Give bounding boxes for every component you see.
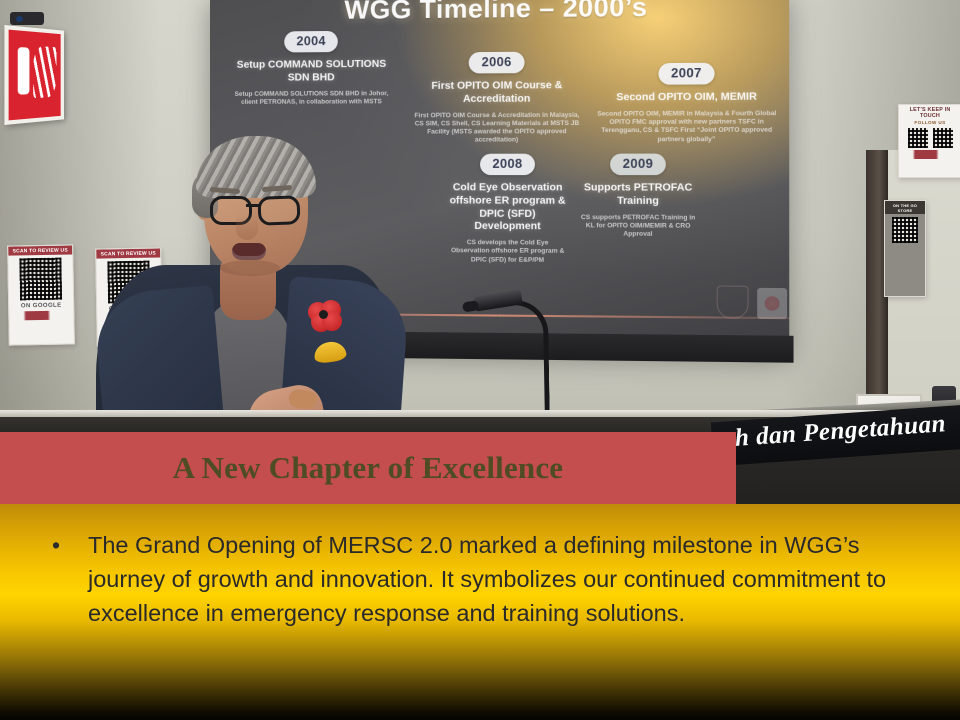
slide-title-band: A New Chapter of Excellence xyxy=(0,432,736,504)
timeline-detail: Setup COMMAND SOLUTIONS SDN BHD in Johor… xyxy=(226,90,397,108)
poster-follow-us: LET’S KEEP IN TOUCH FOLLOW US xyxy=(898,104,960,178)
timeline-node-2007: 2007 Second OPITO OIM, MEMIR Second OPIT… xyxy=(591,27,783,145)
bullet-marker: • xyxy=(52,528,88,630)
poster-subtitle: ON GOOGLE xyxy=(9,302,73,309)
timeline-detail: Second OPITO OIM, MEMIR in Malaysia & Fo… xyxy=(597,110,776,145)
timeline-detail: CS develops the Cold Eye Observation off… xyxy=(449,239,566,265)
timeline-heading: Setup COMMAND SOLUTIONS SDN BHD xyxy=(226,59,397,86)
timeline-detail: First OPITO OIM Course & Accreditation i… xyxy=(409,111,584,145)
projected-slide-title: WGG Timeline – 2000’s xyxy=(210,0,789,27)
slide-body-panel: • The Grand Opening of MERSC 2.0 marked … xyxy=(0,504,960,720)
partner-logo-1 xyxy=(717,286,749,319)
timeline-year: 2009 xyxy=(610,154,666,176)
partner-logo-2 xyxy=(757,288,787,319)
ceiling-camera-icon xyxy=(10,12,44,25)
qr-code-icon xyxy=(908,128,928,148)
page-title: A New Chapter of Excellence xyxy=(173,450,564,486)
speaker-mouth xyxy=(232,243,266,260)
speaker-chin-shadow xyxy=(220,260,280,276)
timeline-row-1: 2004 Setup COMMAND SOLUTIONS SDN BHD Set… xyxy=(220,27,783,146)
timeline-node-2004: 2004 Setup COMMAND SOLUTIONS SDN BHD Set… xyxy=(220,30,403,145)
poster-qr-row xyxy=(899,128,960,148)
timeline-node-2008: 2008 Cold Eye Observation offshore ER pr… xyxy=(443,154,572,265)
poster-title: ON THE GO STORE xyxy=(885,201,925,214)
poster-title: SCAN TO REVIEW US xyxy=(8,245,72,255)
timeline-heading: Cold Eye Observation offshore ER program… xyxy=(449,182,566,234)
qr-code-icon xyxy=(19,258,62,301)
timeline-heading: First OPITO OIM Course & Accreditation xyxy=(409,80,584,107)
poster-footer xyxy=(9,310,73,320)
qr-code-icon xyxy=(933,128,953,148)
poster-subtitle: FOLLOW US xyxy=(899,120,960,125)
timeline-heading: Supports PETROFAC Training xyxy=(579,182,698,208)
timeline-detail: CS supports PETROFAC Training in KL for … xyxy=(579,213,698,239)
timeline-row-2: 2008 Cold Eye Observation offshore ER pr… xyxy=(443,154,704,266)
poster-footer xyxy=(899,150,960,159)
timeline-year: 2006 xyxy=(469,52,524,74)
qr-code-icon xyxy=(892,217,918,243)
bullet-list-item: • The Grand Opening of MERSC 2.0 marked … xyxy=(52,528,916,630)
timeline-node-2006: 2006 First OPITO OIM Course & Accreditat… xyxy=(403,29,591,146)
timeline-heading: Second OPITO OIM, MEMIR xyxy=(597,91,776,105)
poppy-center xyxy=(319,310,328,319)
fire-extinguisher-icon xyxy=(4,25,64,125)
timeline-year: 2008 xyxy=(480,154,535,175)
lens-right xyxy=(258,195,301,225)
timeline-year: 2004 xyxy=(284,31,338,53)
speaker-nose xyxy=(236,214,258,240)
timeline-year: 2007 xyxy=(658,63,714,85)
timeline-node-2009: 2009 Supports PETROFAC Training CS suppo… xyxy=(572,154,704,266)
poster-title: LET’S KEEP IN TOUCH xyxy=(899,105,960,120)
poster-on-the-go-store: ON THE GO STORE xyxy=(884,200,926,297)
poster-google-review-1: SCAN TO REVIEW US ON GOOGLE xyxy=(7,244,75,345)
poppy-pin-icon xyxy=(308,300,342,332)
presentation-slide: SCAN TO REVIEW US ON GOOGLE SCAN TO REVI… xyxy=(0,0,960,720)
bullet-body-text: The Grand Opening of MERSC 2.0 marked a … xyxy=(88,528,916,630)
